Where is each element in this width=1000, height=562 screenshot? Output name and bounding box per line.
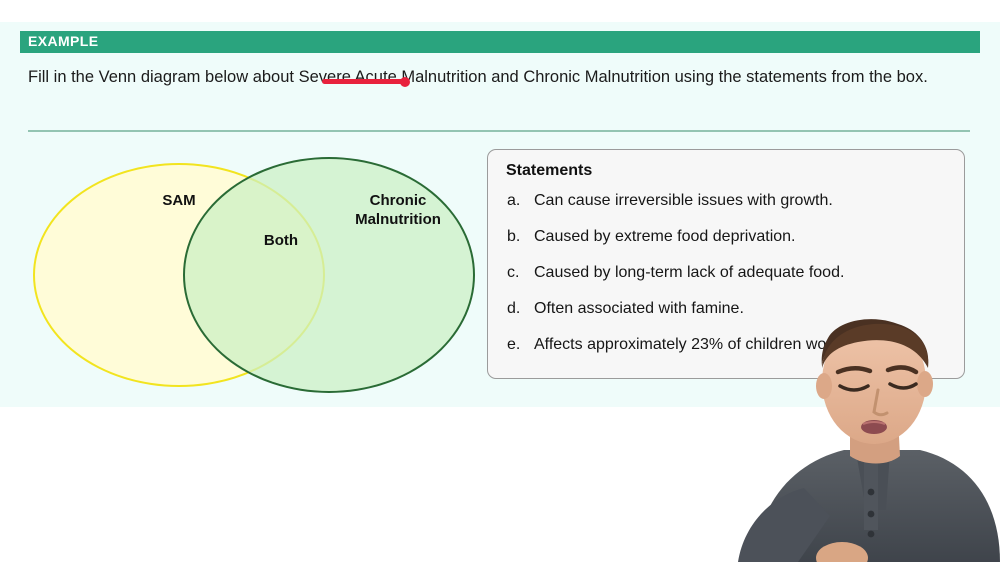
presenter-video-overlay bbox=[738, 310, 1000, 562]
statement-text: Can cause irreversible issues with growt… bbox=[534, 192, 956, 210]
venn-label-chronic-line1: Chronic bbox=[370, 192, 427, 209]
slide-canvas: EXAMPLE Fill in the Venn diagram below a… bbox=[0, 0, 1000, 562]
venn-label-both: Both bbox=[226, 231, 336, 250]
prompt-segment-2: Malnutrition and Chronic Malnutrition us… bbox=[397, 68, 865, 86]
statement-text: Caused by extreme food deprivation. bbox=[534, 228, 956, 246]
statement-marker: b. bbox=[502, 228, 534, 246]
statement-marker: e. bbox=[502, 336, 534, 354]
statement-marker: c. bbox=[502, 264, 534, 282]
statement-marker: d. bbox=[502, 300, 534, 318]
statement-item[interactable]: a.Can cause irreversible issues with gro… bbox=[502, 192, 956, 228]
presenter-figure bbox=[738, 310, 1000, 562]
statement-item[interactable]: c.Caused by long-term lack of adequate f… bbox=[502, 264, 956, 300]
statement-marker: a. bbox=[502, 192, 534, 210]
venn-label-chronic-malnutrition: Chronic Malnutrition bbox=[323, 191, 473, 229]
section-divider bbox=[28, 130, 970, 132]
prompt-line-2: the box. bbox=[869, 68, 928, 86]
venn-label-sam: SAM bbox=[124, 191, 234, 210]
example-badge-label: EXAMPLE bbox=[28, 33, 98, 49]
prompt-segment-1: Fill in the Venn diagram below about bbox=[28, 68, 299, 86]
venn-label-chronic-line2: Malnutrition bbox=[355, 211, 441, 228]
example-header-bar bbox=[20, 31, 980, 53]
venn-diagram: SAM Both Chronic Malnutrition bbox=[28, 155, 483, 395]
statements-title: Statements bbox=[506, 162, 592, 180]
red-marker-underline bbox=[322, 79, 408, 84]
statement-text: Caused by long-term lack of adequate foo… bbox=[534, 264, 956, 282]
statement-item[interactable]: b.Caused by extreme food deprivation. bbox=[502, 228, 956, 264]
prompt-text: Fill in the Venn diagram below about Sev… bbox=[28, 60, 958, 94]
